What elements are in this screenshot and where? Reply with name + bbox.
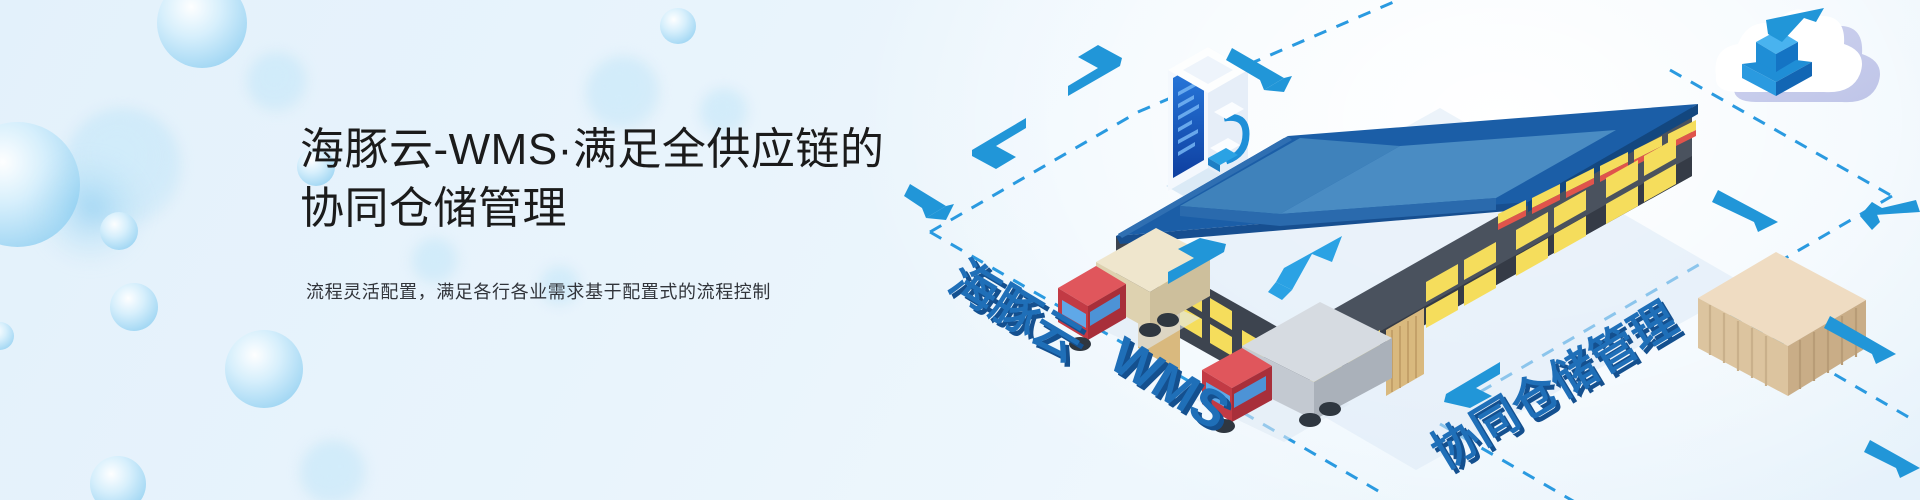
bubble (300, 440, 366, 500)
bubble (157, 0, 247, 68)
bubble (90, 456, 146, 500)
bubble (0, 322, 14, 350)
wms-hero-banner: 海豚云-WMS·满足全供应链的 协同仓储管理 流程灵活配置，满足各行各业需求基于… (0, 0, 1920, 500)
bubble (100, 212, 138, 250)
bubble (660, 8, 696, 44)
warehouse-illustration: 海豚云 海豚云 WMS WMS 协同仓储管理 协同仓储管理 (880, 0, 1920, 500)
bubble (64, 108, 182, 226)
bubble (225, 330, 303, 408)
bubble (38, 158, 143, 263)
bubble (0, 122, 80, 247)
bubble (247, 52, 307, 112)
bubble (110, 283, 158, 331)
